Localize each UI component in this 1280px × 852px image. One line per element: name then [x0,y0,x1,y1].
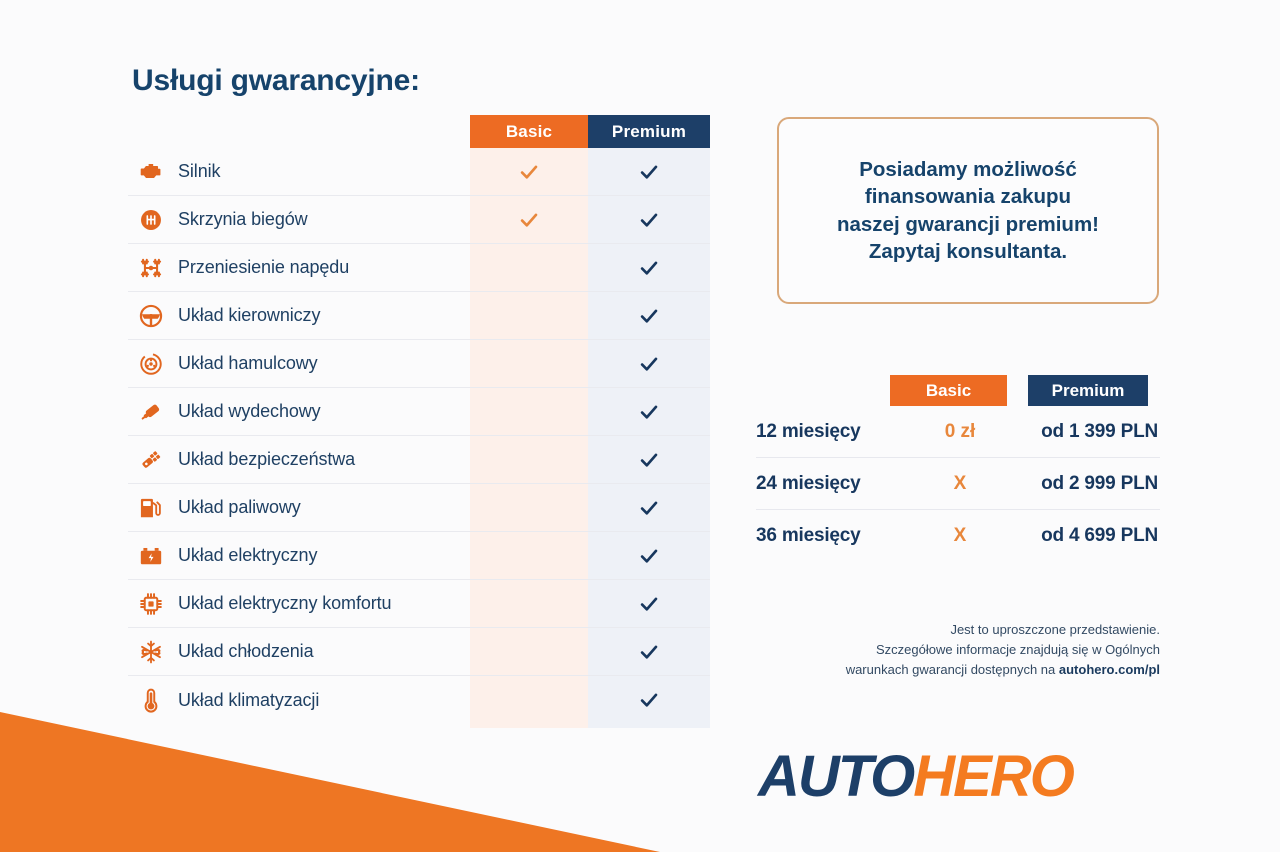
financing-promo-box: Posiadamy możliwość finansowania zakupu … [777,117,1159,304]
feature-cell-premium [588,497,710,519]
feature-label: Układ elektryczny komfortu [174,593,470,614]
drivetrain-icon [128,255,174,281]
feature-label: Układ elektryczny [174,545,470,566]
feature-label: Układ kierowniczy [174,305,470,326]
feature-cell-basic [470,209,588,231]
feature-label: Przeniesienie napędu [174,257,470,278]
seatbelt-icon [128,447,174,473]
autohero-website-link[interactable]: autohero.com/pl [1059,662,1160,677]
price-term: 12 miesięcy [756,421,890,443]
feature-cell-premium [588,353,710,375]
autohero-logo: AUTOHERO [758,748,1073,806]
price-header-premium: Premium [1028,375,1148,406]
feature-label: Układ paliwowy [174,497,470,518]
engine-icon [128,159,174,185]
feature-label: Układ wydechowy [174,401,470,422]
feature-header-basic: Basic [470,115,588,148]
battery-icon [128,543,174,569]
price-premium-value: od 2 999 PLN [1030,473,1160,495]
price-premium-value: od 4 699 PLN [1030,525,1160,547]
price-row: 24 miesięcyXod 2 999 PLN [756,458,1160,510]
promo-line-2: finansowania zakupu [865,185,1071,208]
feature-label: Układ klimatyzacji [174,690,470,711]
feature-row: Układ paliwowy [128,484,710,532]
price-basic-value: X [890,525,1030,547]
price-term: 24 miesięcy [756,473,890,495]
feature-label: Układ chłodzenia [174,641,470,662]
feature-label: Układ hamulcowy [174,353,470,374]
brake-disc-icon [128,351,174,377]
legal-fineprint: Jest to uproszczone przedstawienie. Szcz… [700,620,1160,680]
price-basic-value: X [890,473,1030,495]
price-premium-value: od 1 399 PLN [1030,421,1160,443]
logo-text-auto: AUTO [758,744,913,809]
feature-cell-premium [588,257,710,279]
feature-row: Układ wydechowy [128,388,710,436]
gearbox-icon [128,207,174,233]
promo-line-4: Zapytaj konsultanta. [869,240,1067,263]
feature-row: Układ kierowniczy [128,292,710,340]
feature-cell-premium [588,449,710,471]
price-table: 12 miesięcy0 złod 1 399 PLN24 miesięcyXo… [756,406,1160,562]
feature-cell-premium [588,401,710,423]
feature-row: Układ elektryczny [128,532,710,580]
feature-row: Skrzynia biegów [128,196,710,244]
price-basic-value: 0 zł [890,421,1030,443]
feature-cell-basic [470,161,588,183]
feature-cell-premium [588,641,710,663]
feature-label: Skrzynia biegów [174,209,470,230]
steering-wheel-icon [128,303,174,329]
feature-cell-premium [588,593,710,615]
feature-row: Układ bezpieczeństwa [128,436,710,484]
price-term: 36 miesięcy [756,525,890,547]
feature-row: Układ klimatyzacji [128,676,710,724]
chip-icon [128,591,174,617]
fineprint-line-1: Jest to uproszczone przedstawienie. [950,622,1160,637]
poster-canvas: Usługi gwarancyjne: Basic Premium Silnik… [0,0,1280,852]
fuel-pump-icon [128,495,174,521]
fineprint-line-3-prefix: warunkach gwarancji dostępnych na [846,662,1059,677]
feature-row: Przeniesienie napędu [128,244,710,292]
feature-table-header: Basic Premium [470,115,710,148]
snowflake-icon [128,639,174,665]
promo-line-1: Posiadamy możliwość [859,158,1077,181]
financing-promo-text: Posiadamy możliwość finansowania zakupu … [821,156,1115,266]
feature-row: Silnik [128,148,710,196]
page-title: Usługi gwarancyjne: [132,64,420,97]
feature-table: SilnikSkrzynia biegówPrzeniesienie napęd… [128,148,710,724]
feature-cell-premium [588,689,710,711]
feature-header-premium: Premium [588,115,710,148]
feature-row: Układ chłodzenia [128,628,710,676]
feature-row: Układ elektryczny komfortu [128,580,710,628]
promo-line-3: naszej gwarancji premium! [837,213,1099,236]
feature-cell-premium [588,209,710,231]
feature-cell-premium [588,161,710,183]
feature-cell-premium [588,545,710,567]
feature-row: Układ hamulcowy [128,340,710,388]
fineprint-line-2: Szczegółowe informacje znajdują się w Og… [876,642,1160,657]
feature-label: Silnik [174,161,470,182]
price-row: 36 miesięcyXod 4 699 PLN [756,510,1160,562]
feature-label: Układ bezpieczeństwa [174,449,470,470]
exhaust-icon [128,399,174,425]
thermometer-icon [128,687,174,713]
feature-cell-premium [588,305,710,327]
price-row: 12 miesięcy0 złod 1 399 PLN [756,406,1160,458]
logo-text-hero: HERO [913,744,1073,809]
price-header-basic: Basic [890,375,1007,406]
